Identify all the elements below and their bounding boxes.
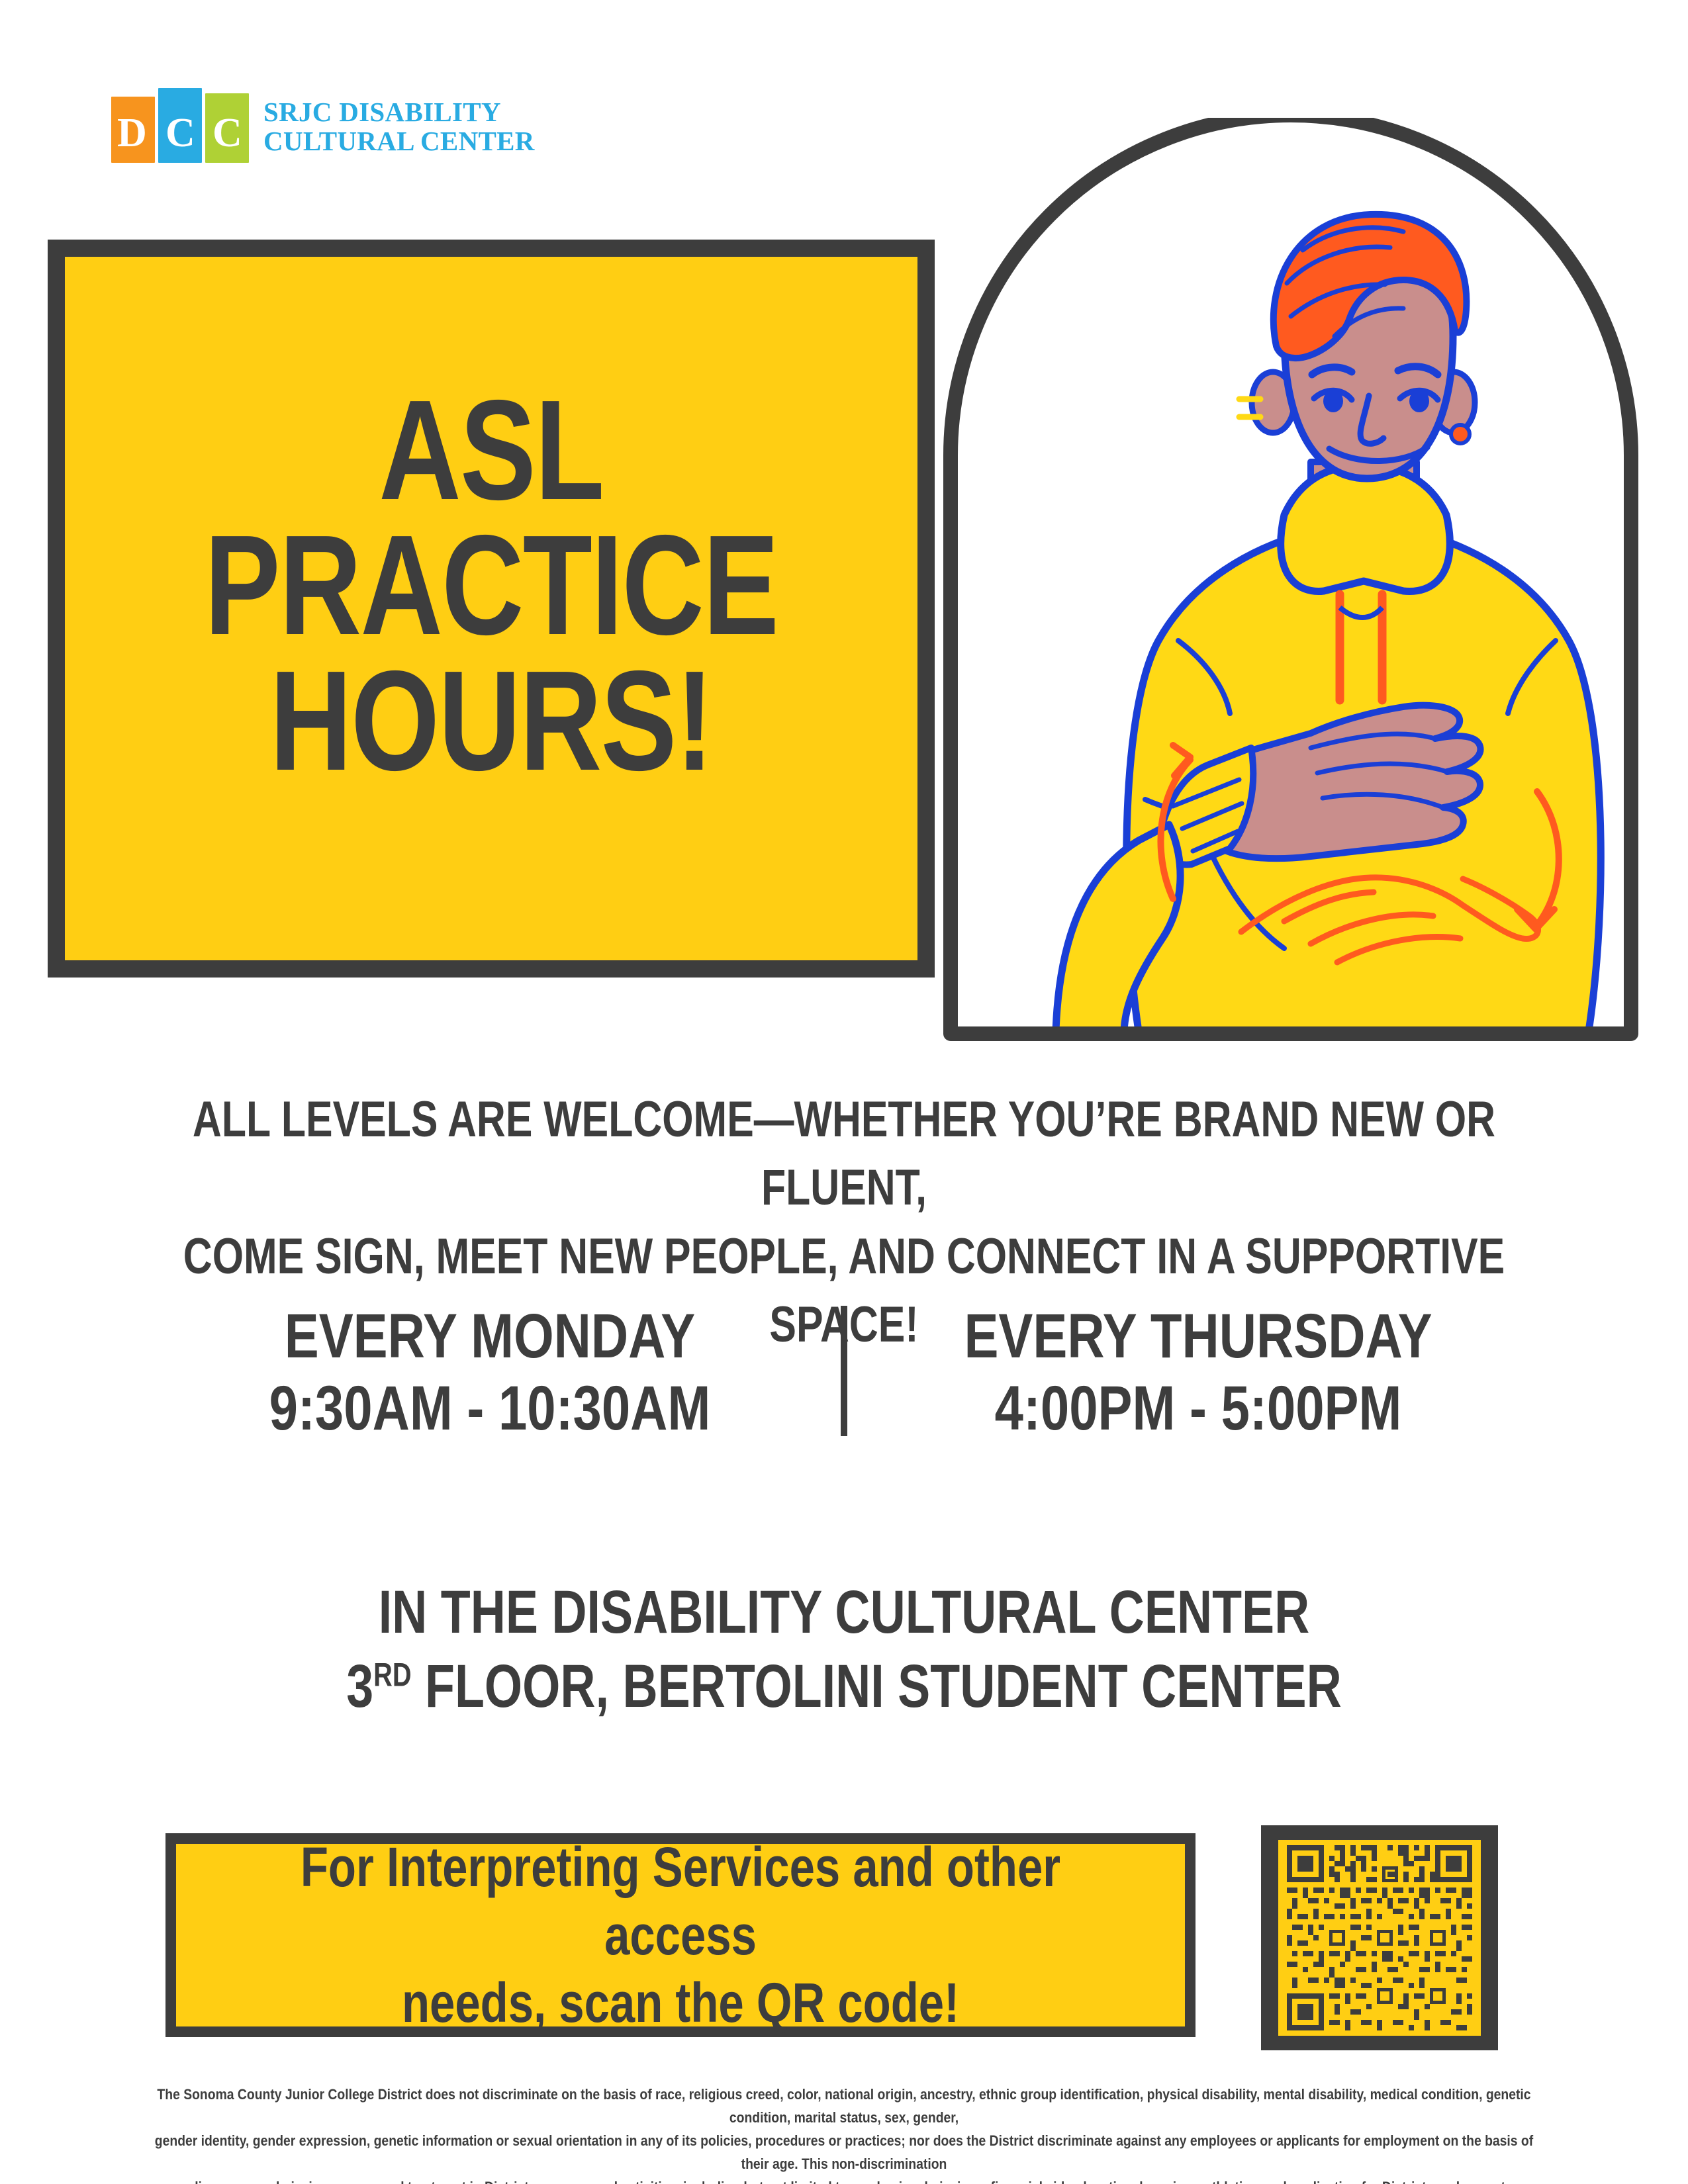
qr-code-icon[interactable] bbox=[1278, 1840, 1481, 2036]
location-line-2: 3RD FLOOR, BERTOLINI STUDENT CENTER bbox=[169, 1649, 1519, 1723]
logo-letter-c2: C bbox=[212, 113, 242, 154]
logo-wordmark-line1: SRJC DISABILITY bbox=[263, 97, 535, 126]
poster-root: D C C SRJC DISABILITY CULTURAL CENTER AS… bbox=[0, 0, 1688, 2184]
fineprint-line-3: policy covers admission, access and trea… bbox=[152, 2176, 1536, 2184]
dcc-logo: D C C SRJC DISABILITY CULTURAL CENTER bbox=[111, 88, 535, 164]
location-line-1: IN THE DISABILITY CULTURAL CENTER bbox=[169, 1575, 1519, 1649]
location-floor-number: 3 bbox=[346, 1653, 373, 1720]
schedule-thursday-time: 4:00PM - 5:00PM bbox=[910, 1373, 1485, 1445]
qr-callout-text: For Interpreting Services and other acce… bbox=[267, 1833, 1094, 2036]
logo-wordmark-line2: CULTURAL CENTER bbox=[263, 126, 535, 156]
logo-wordmark: SRJC DISABILITY CULTURAL CENTER bbox=[263, 97, 535, 156]
title-line-2: PRACTICE bbox=[150, 518, 832, 653]
page-title: ASL PRACTICE HOURS! bbox=[150, 383, 832, 788]
schedule-monday-day: EVERY MONDAY bbox=[202, 1300, 777, 1373]
qr-callout-line-1: For Interpreting Services and other acce… bbox=[267, 1833, 1094, 1969]
nondiscrimination-fineprint: The Sonoma County Junior College Distric… bbox=[152, 2083, 1536, 2184]
location: IN THE DISABILITY CULTURAL CENTER 3RD FL… bbox=[169, 1575, 1519, 1723]
schedule-monday: EVERY MONDAY 9:30AM - 10:30AM bbox=[202, 1300, 777, 1445]
schedule-divider bbox=[841, 1306, 847, 1436]
schedule: EVERY MONDAY 9:30AM - 10:30AM EVERY THUR… bbox=[0, 1300, 1688, 1445]
location-floor-ordinal: RD bbox=[373, 1657, 411, 1694]
logo-letter-d: D bbox=[117, 113, 147, 154]
title-line-3: HOURS! bbox=[150, 653, 832, 788]
title-line-1: ASL bbox=[150, 383, 832, 518]
logo-letter-c1: C bbox=[165, 113, 195, 154]
qr-callout-line-2: needs, scan the QR code! bbox=[267, 1969, 1094, 2036]
blurb-line-1: ALL LEVELS ARE WELCOME—WHETHER YOU’RE BR… bbox=[169, 1085, 1519, 1222]
fineprint-line-2: gender identity, gender expression, gene… bbox=[152, 2130, 1536, 2176]
person-signing-illustration bbox=[940, 118, 1642, 1044]
qr-callout-panel: For Interpreting Services and other acce… bbox=[165, 1833, 1196, 2037]
logo-color-blocks: D C C bbox=[111, 88, 252, 164]
schedule-thursday-day: EVERY THURSDAY bbox=[910, 1300, 1485, 1373]
schedule-thursday: EVERY THURSDAY 4:00PM - 5:00PM bbox=[910, 1300, 1485, 1445]
qr-code-inner[interactable] bbox=[1278, 1840, 1481, 2036]
schedule-monday-time: 9:30AM - 10:30AM bbox=[202, 1373, 777, 1445]
location-floor-rest: FLOOR, BERTOLINI STUDENT CENTER bbox=[412, 1653, 1342, 1720]
fineprint-line-1: The Sonoma County Junior College Distric… bbox=[152, 2083, 1536, 2130]
title-panel: ASL PRACTICE HOURS! bbox=[48, 240, 935, 978]
qr-code[interactable] bbox=[1261, 1825, 1498, 2050]
